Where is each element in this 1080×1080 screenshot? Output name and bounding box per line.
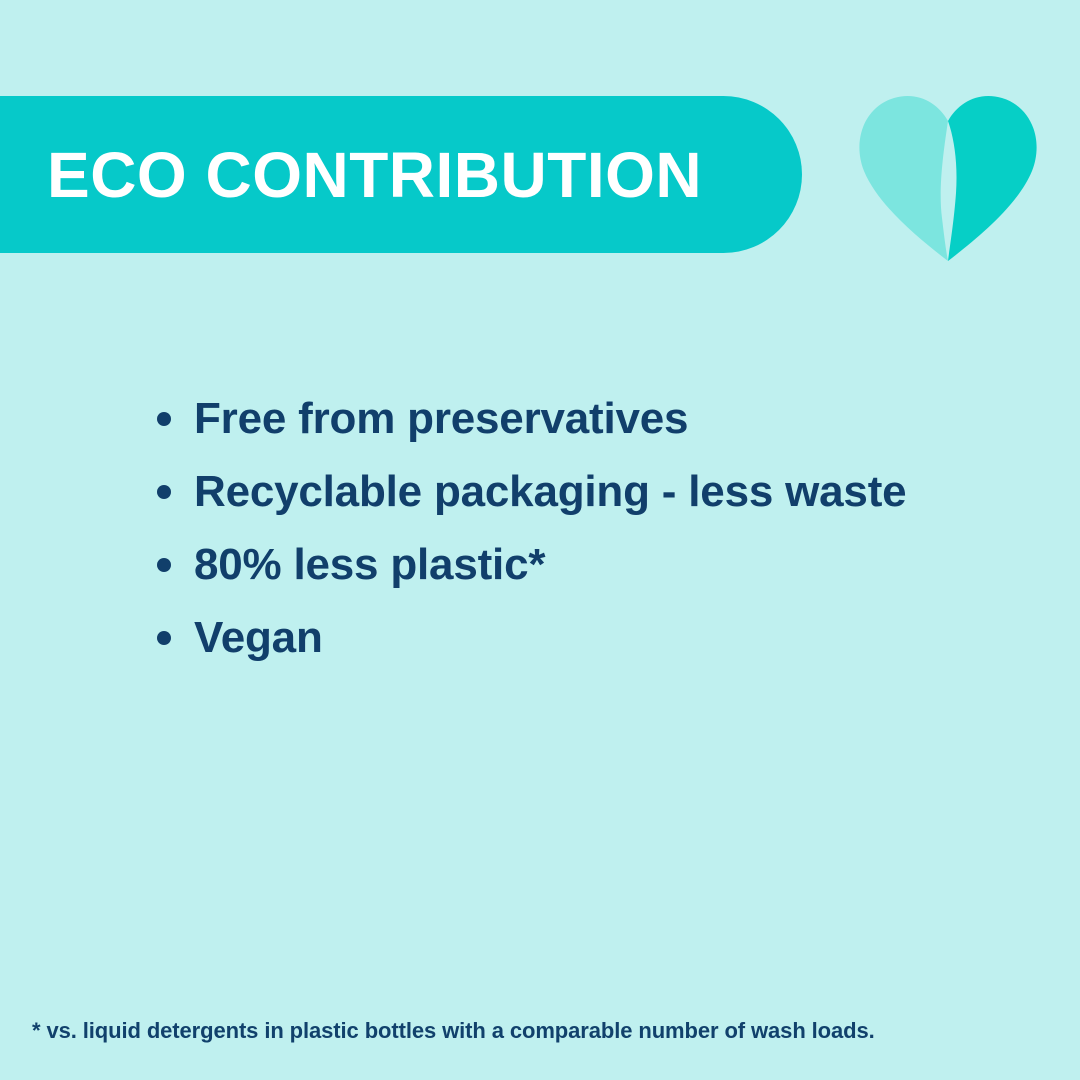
footnote-text: * vs. liquid detergents in plastic bottl… xyxy=(32,1016,1062,1046)
benefit-text: Vegan xyxy=(194,602,952,673)
bullet-dot-icon xyxy=(157,412,171,426)
list-item: 80% less plastic* xyxy=(152,529,952,600)
eco-contribution-card: ECO CONTRIBUTION Free from preservatives… xyxy=(0,0,1080,1080)
benefits-list: Free from preservatives Recyclable packa… xyxy=(152,383,952,675)
bullet-dot-icon xyxy=(157,558,171,572)
bullet-dot-icon xyxy=(157,631,171,645)
header-banner: ECO CONTRIBUTION xyxy=(0,96,802,253)
bullet-dot-icon xyxy=(157,485,171,499)
benefit-text: 80% less plastic* xyxy=(194,529,952,600)
benefit-text: Free from preservatives xyxy=(194,383,952,454)
list-item: Vegan xyxy=(152,602,952,673)
benefit-text: Recyclable packaging - less waste xyxy=(194,456,934,527)
list-item: Free from preservatives xyxy=(152,383,952,454)
heart-icon xyxy=(858,93,1038,261)
list-item: Recyclable packaging - less waste xyxy=(152,456,934,527)
page-title: ECO CONTRIBUTION xyxy=(0,143,702,207)
